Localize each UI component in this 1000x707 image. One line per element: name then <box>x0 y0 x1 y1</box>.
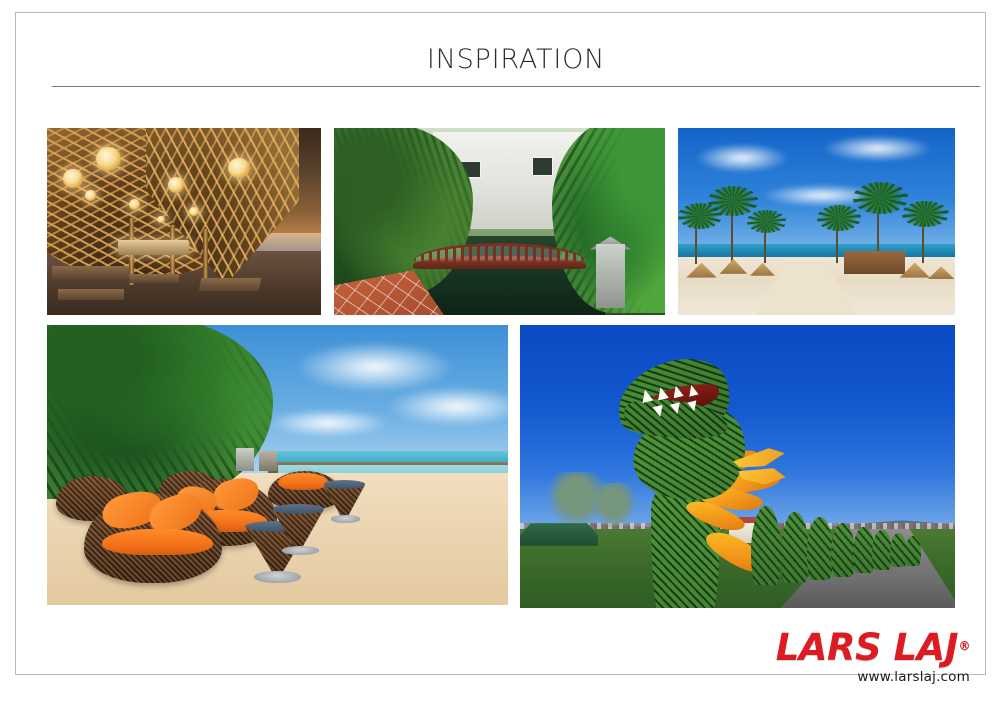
cone-table-base-front <box>254 571 300 582</box>
registered-trademark-icon: ® <box>959 627 971 665</box>
tooth-upper-3 <box>671 384 684 398</box>
cone-table-top-back <box>324 480 365 488</box>
gallery-image-rattan-terrace[interactable] <box>47 325 508 605</box>
hedge-3 <box>807 517 833 579</box>
page-title: INSPIRATION <box>52 43 980 77</box>
gallery-image-garden-bridge[interactable] <box>334 128 665 315</box>
title-divider <box>52 86 980 87</box>
hedge-4 <box>831 523 855 577</box>
stone-lantern <box>596 244 626 308</box>
hedge-8 <box>905 536 921 566</box>
cone-table-base-back <box>331 515 361 522</box>
thatched-pavilion <box>844 251 905 273</box>
tooth-lower-2 <box>670 402 683 415</box>
photo2-canvas <box>334 128 665 315</box>
gallery-image-resort-pool[interactable] <box>678 128 955 315</box>
palm-crown-4 <box>817 205 861 231</box>
lantern-decor <box>236 448 254 470</box>
cloud-2 <box>822 135 933 161</box>
tooth-lower-3 <box>688 400 700 412</box>
palm-crown-5 <box>853 182 908 214</box>
palm-crown-3 <box>747 210 786 232</box>
hanging-lantern-2 <box>63 169 82 188</box>
tooth-upper-2 <box>655 386 669 401</box>
dining-table-3 <box>129 274 178 283</box>
photo5-canvas <box>520 325 955 608</box>
cone-table-top-mid <box>273 504 324 514</box>
gallery-image-topiary-dragon[interactable] <box>520 325 955 608</box>
cloud-1 <box>695 143 789 173</box>
brand-wordmark: LARS LAJ ® <box>776 629 970 667</box>
hedge-6 <box>872 530 892 570</box>
sun-lounger <box>199 278 262 291</box>
tooth-upper-4 <box>687 383 699 396</box>
cone-table-base-mid <box>282 546 319 554</box>
orange-cushion-back-right <box>278 473 329 490</box>
hedge-5 <box>853 527 875 572</box>
bamboo-column-3 <box>203 229 208 278</box>
dining-table-1 <box>52 266 129 279</box>
cloud-1 <box>296 342 453 392</box>
wooden-bridge <box>413 233 585 289</box>
brand-name-text: LARS LAJ <box>776 626 958 669</box>
palm-foliage <box>47 325 273 499</box>
hanging-lantern-1 <box>96 147 121 171</box>
brand-logo[interactable]: LARS LAJ ® www.larslaj.com <box>776 629 970 685</box>
slide: INSPIRATION <box>0 0 1000 707</box>
brand-website-url[interactable]: www.larslaj.com <box>776 669 970 685</box>
eucalyptus-tree-2 <box>590 483 638 528</box>
photo1-canvas <box>47 128 321 315</box>
photo3-canvas <box>678 128 955 315</box>
bridge-railing <box>413 243 585 262</box>
tooth-lower-1 <box>653 405 666 418</box>
villa-window-2 <box>533 158 553 175</box>
cloud-3 <box>268 409 388 437</box>
tooth-upper-1 <box>640 388 654 403</box>
dining-table-2 <box>58 289 124 300</box>
hanging-lantern-6 <box>189 207 199 216</box>
photo4-canvas <box>47 325 508 605</box>
hedge-1 <box>751 506 781 585</box>
hanging-lantern-4 <box>228 158 250 179</box>
palm-crown-2 <box>708 186 758 216</box>
planter-decor <box>259 451 277 471</box>
orange-seat-front <box>102 529 213 554</box>
gallery-image-bamboo-pavilion[interactable] <box>47 128 321 315</box>
pavilion-bar-counter <box>118 240 189 255</box>
cloud-2 <box>388 387 508 426</box>
green-roof-building <box>520 523 598 546</box>
